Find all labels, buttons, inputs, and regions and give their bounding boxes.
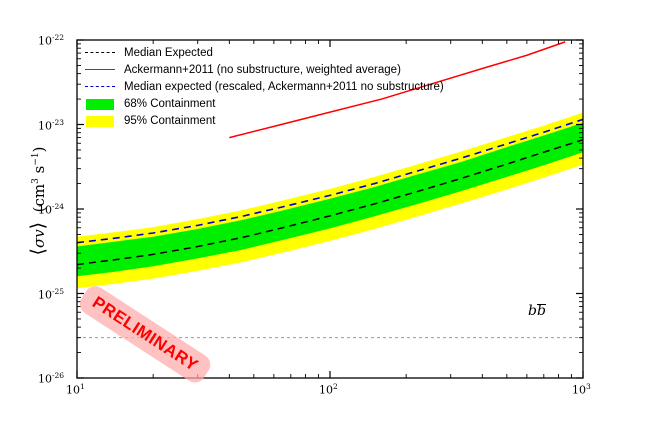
- y-tick-label: 10-25: [38, 287, 64, 302]
- x-tick-label: 103: [572, 382, 591, 397]
- legend-label: 68% Containment: [124, 98, 215, 110]
- legend-label: Ackermann+2011 (no substructure, weighte…: [124, 64, 401, 76]
- y-tick-label: 10-24: [38, 202, 64, 217]
- y-tick-label: 10-26: [38, 371, 64, 386]
- dashed-line-icon: [85, 81, 115, 93]
- x-tick-label: 102: [319, 382, 338, 397]
- x-tick-label: 101: [66, 382, 85, 397]
- dashed-line-icon: [85, 47, 115, 59]
- legend-label: 95% Containment: [124, 115, 215, 127]
- legend-item-median-expected: Median Expected: [85, 44, 444, 61]
- legend-label: Median expected (rescaled, Ackermann+201…: [124, 81, 444, 93]
- legend-item-95-containment: 95% Containment: [85, 112, 444, 129]
- legend-item-median-expected-rescaled: Median expected (rescaled, Ackermann+201…: [85, 78, 444, 95]
- y-tick-label: 10-22: [38, 33, 64, 48]
- solid-line-icon: [85, 64, 115, 76]
- yellow-patch-icon: [85, 115, 115, 127]
- y-tick-label: 10-23: [38, 118, 64, 133]
- channel-label: bb: [528, 303, 546, 319]
- channel-bbar: b: [537, 304, 546, 318]
- legend-label: Median Expected: [124, 47, 213, 59]
- channel-b: b: [528, 303, 537, 319]
- legend-item-ackermann-2011: Ackermann+2011 (no substructure, weighte…: [85, 61, 444, 78]
- green-patch-icon: [85, 98, 115, 110]
- legend-item-68-containment: 68% Containment: [85, 95, 444, 112]
- legend: Median Expected Ackermann+2011 (no subst…: [85, 44, 444, 129]
